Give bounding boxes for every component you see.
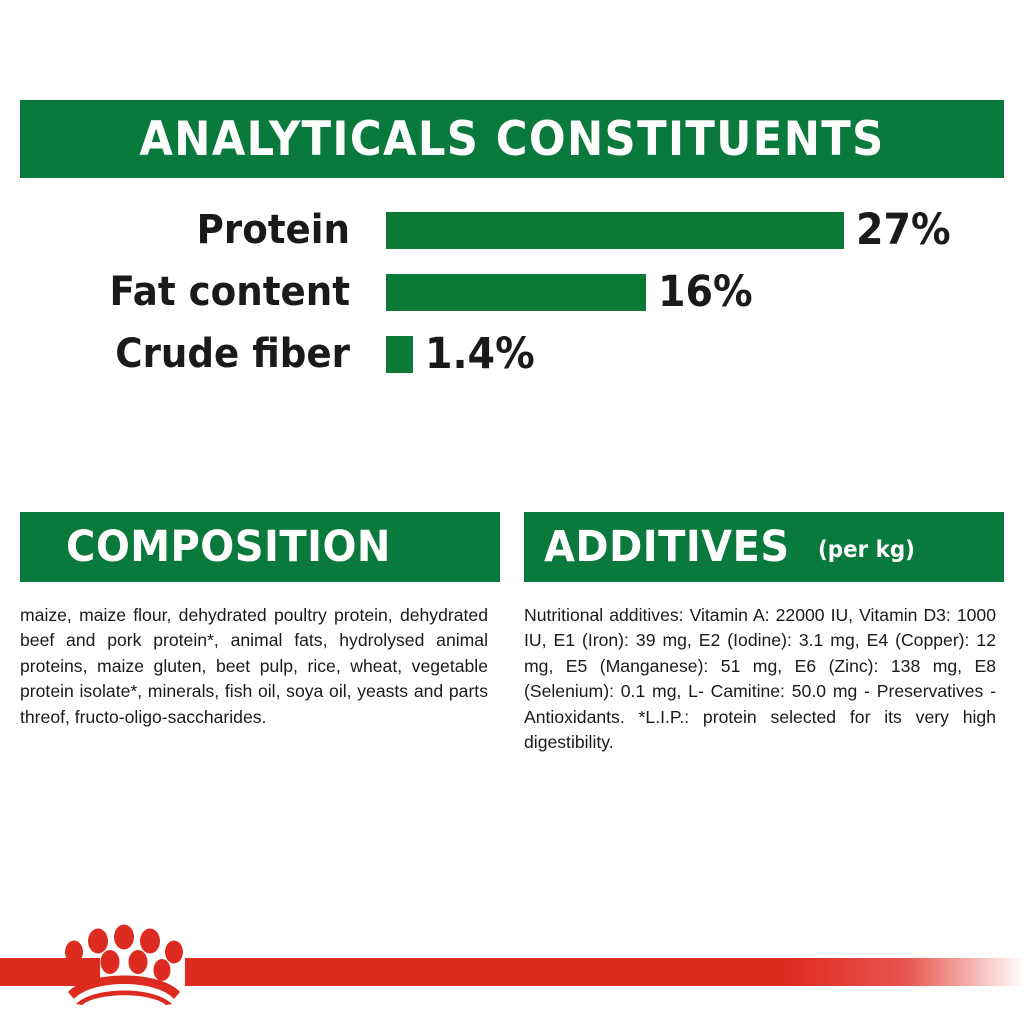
bar-track-fat-content: 16%: [386, 271, 761, 314]
bar-fill-fat-content: [386, 274, 646, 311]
bar-fill-protein: [386, 212, 844, 249]
bar-label-fat-content: Fat content: [25, 272, 351, 312]
bar-value-protein: 27%: [856, 209, 951, 252]
bar-fill-crude-fiber: [386, 336, 413, 373]
bar-row: Crude fiber 1.4%: [0, 324, 1024, 384]
bar-label-protein: Protein: [25, 210, 351, 250]
analyticals-constituents-title: ANALYTICALS CONSTITUENTS: [139, 112, 884, 167]
footer-red-bar-left: [0, 958, 100, 986]
analyticals-constituents-banner: ANALYTICALS CONSTITUENTS: [20, 100, 1004, 178]
bar-value-fat-content: 16%: [658, 271, 753, 314]
composition-text: maize, maize flour, dehydrated poultry p…: [20, 603, 488, 730]
additives-banner: ADDITIVES (per kg): [524, 512, 1004, 582]
bar-track-crude-fiber: 1.4%: [386, 333, 544, 376]
bar-row: Fat content 16%: [0, 262, 1024, 322]
additives-per-kg-label: (per kg): [818, 539, 915, 562]
additives-title: ADDITIVES: [544, 526, 790, 569]
analyticals-bar-chart: Protein 27% Fat content 16% Crude fiber …: [0, 198, 1024, 388]
bar-label-crude-fiber: Crude fiber: [25, 334, 351, 374]
bar-track-protein: 27%: [386, 209, 959, 252]
bar-row: Protein 27%: [0, 200, 1024, 260]
composition-title: COMPOSITION: [66, 526, 391, 569]
additives-text: Nutritional additives: Vitamin A: 22000 …: [524, 603, 996, 755]
royal-canin-crown-logo: [62, 920, 186, 1005]
bar-value-crude-fiber: 1.4%: [425, 333, 535, 376]
composition-banner: COMPOSITION: [20, 512, 500, 582]
footer-red-bar-right: [185, 958, 1024, 986]
